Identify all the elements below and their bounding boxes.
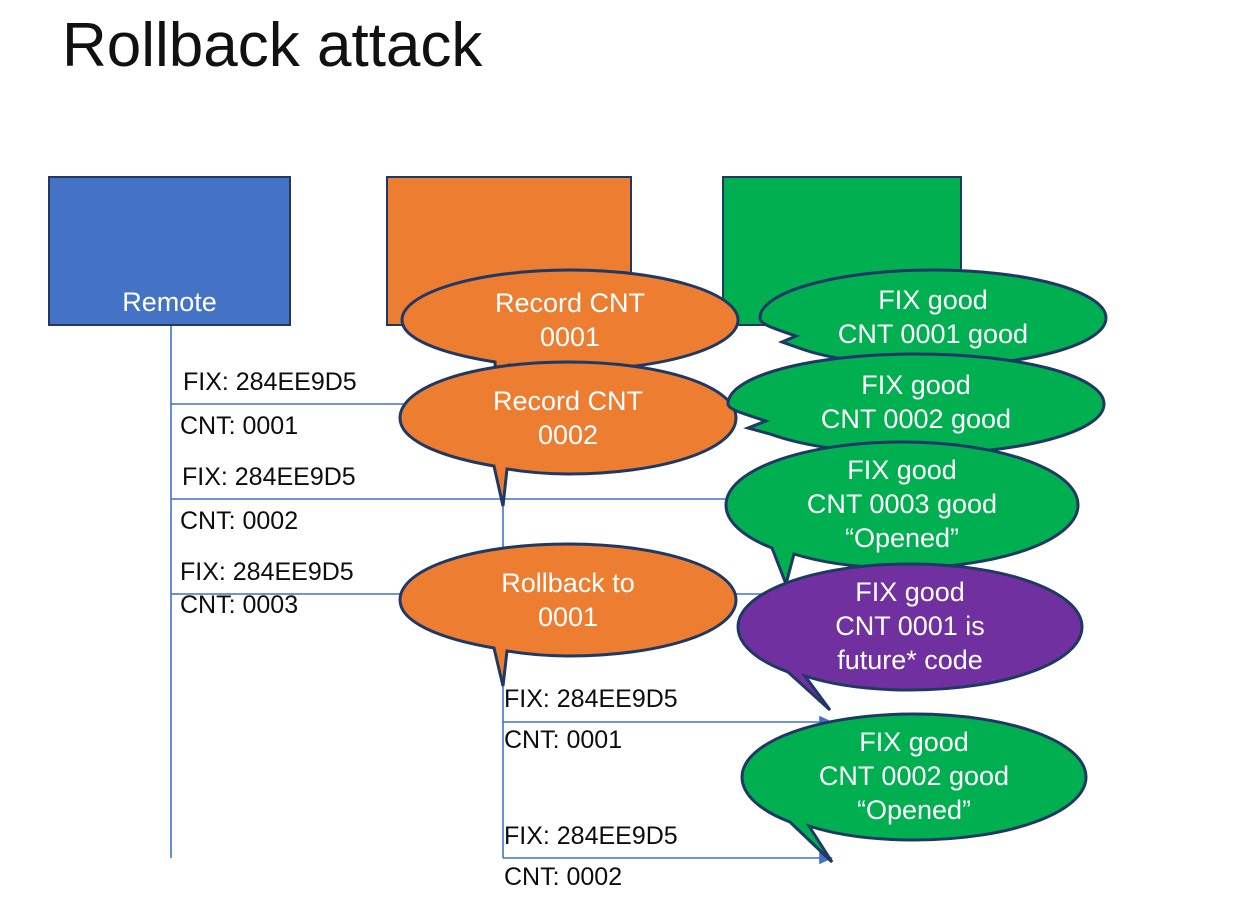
message-fix-m3: FIX: 284EE9D5 [180,559,354,585]
message-cnt-m1: CNT: 0001 [180,413,298,439]
message-cnt-m2: CNT: 0002 [180,508,298,534]
receiver-note-r5[interactable]: FIX good CNT 0002 good “Opened” [740,712,1088,840]
receiver-note-r3[interactable]: FIX good CNT 0003 good “Opened” [724,440,1080,568]
message-cnt-m4: CNT: 0001 [504,727,622,753]
slide-canvas: Rollback attack Remote Flipper Zero Rec [0,0,1233,898]
actor-label-remote: Remote [122,287,217,318]
flipper-note-f3[interactable]: Rollback to 0001 [398,542,738,672]
actor-box-remote[interactable]: Remote [48,176,291,326]
message-fix-m1: FIX: 284EE9D5 [183,369,357,395]
message-cnt-m3: CNT: 0003 [180,592,298,618]
receiver-note-r4[interactable]: FIX good CNT 0001 is future* code [736,562,1084,690]
receiver-note-r2[interactable]: FIX good CNT 0002 good [726,352,1106,452]
flipper-note-f1[interactable]: Record CNT 0001 [400,268,740,372]
message-fix-m4: FIX: 284EE9D5 [504,686,678,712]
message-fix-m5: FIX: 284EE9D5 [504,823,678,849]
message-fix-m2: FIX: 284EE9D5 [182,464,356,490]
flipper-note-f2[interactable]: Record CNT 0002 [398,360,738,490]
message-cnt-m5: CNT: 0002 [504,864,622,890]
